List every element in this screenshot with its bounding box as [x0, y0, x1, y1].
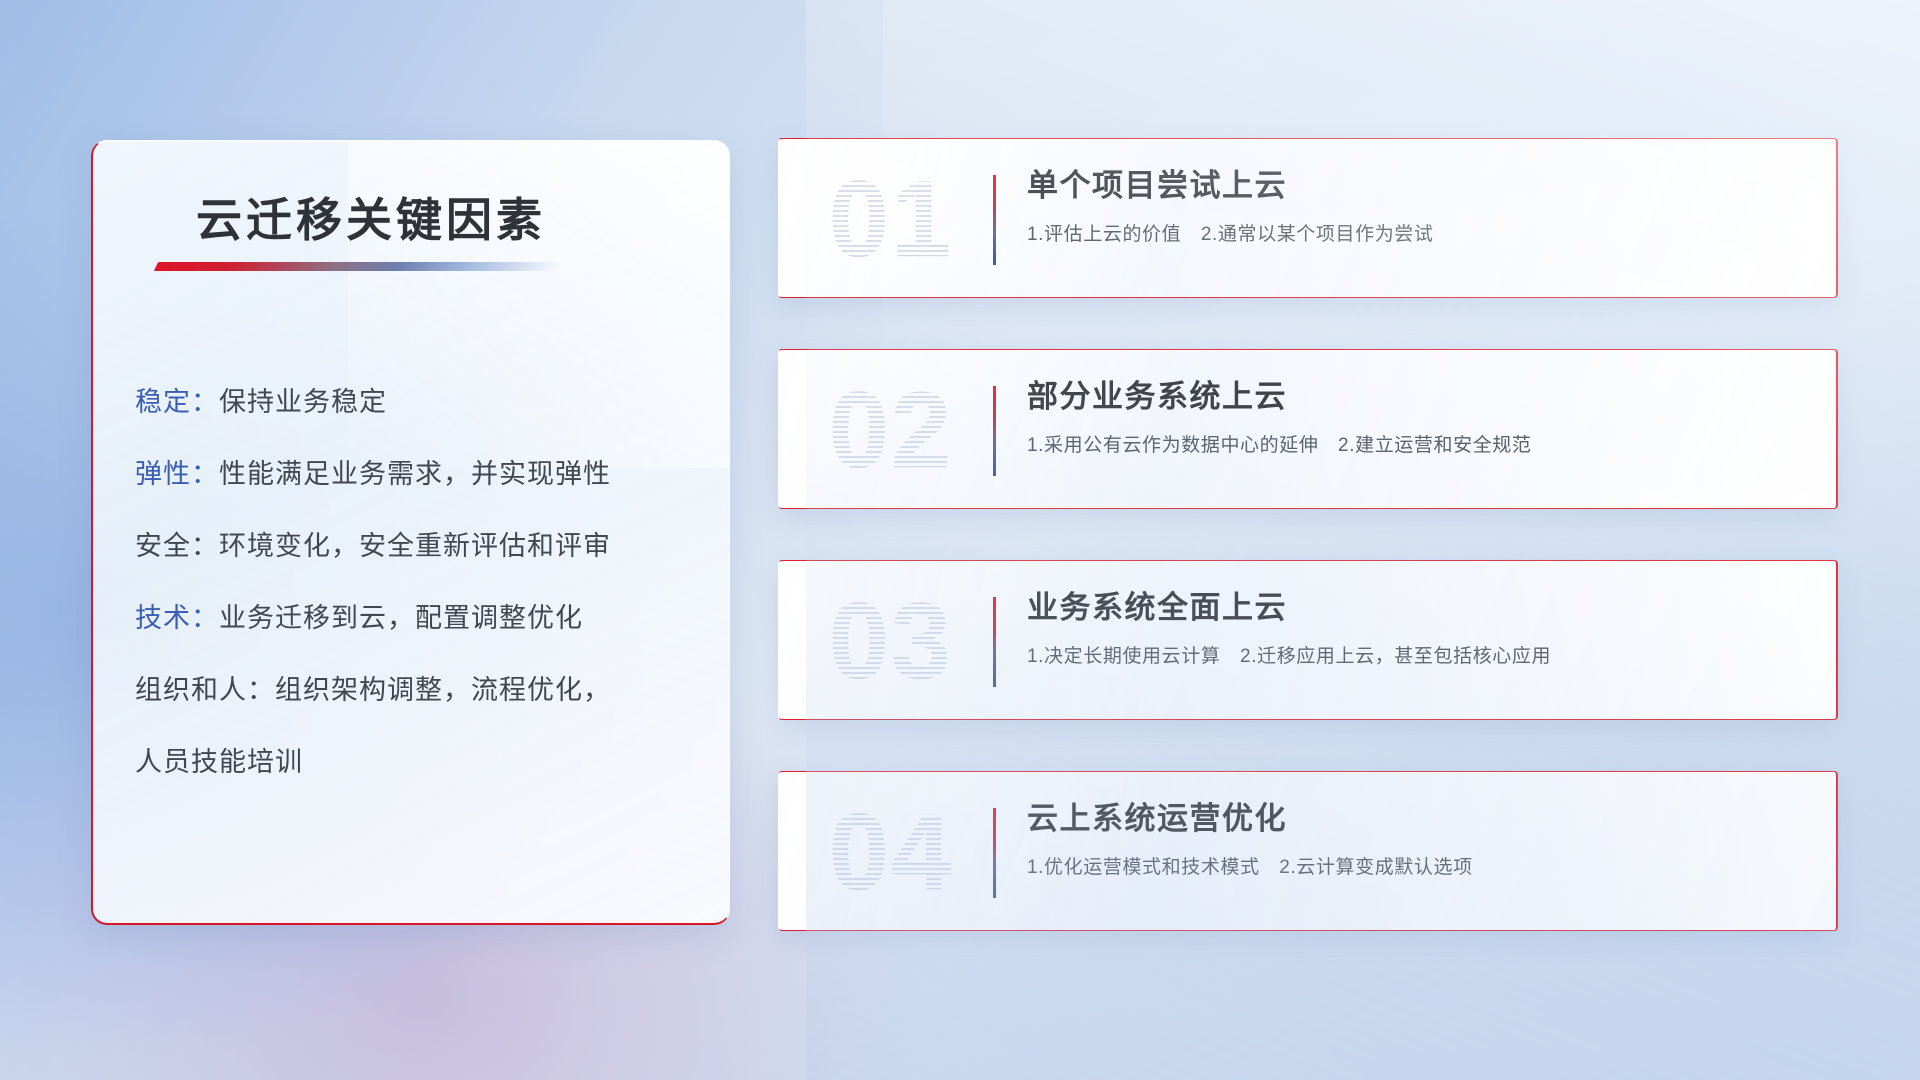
migration-steps-list: 01 单个项目尝试上云 1.评估上云的价值 2.通常以某个项目作为尝试 02 部… — [778, 138, 1838, 931]
step-content: 部分业务系统上云 1.采用公有云作为数据中心的延伸 2.建立运营和安全规范 — [1027, 378, 1808, 459]
step-description: 1.优化运营模式和技术模式 2.云计算变成默认选项 — [1027, 856, 1808, 881]
step-card-04[interactable]: 04 云上系统运营优化 1.优化运营模式和技术模式 2.云计算变成默认选项 — [778, 771, 1838, 931]
step-title: 部分业务系统上云 — [1027, 378, 1808, 415]
title-underline-accent — [154, 262, 562, 271]
slide-canvas: 云迁移关键因素 稳定：保持业务稳定 弹性：性能满足业务需求，并实现弹性 安全：环… — [0, 0, 1920, 1080]
step-card-03[interactable]: 03 业务系统全面上云 1.决定长期使用云计算 2.迁移应用上云，甚至包括核心应… — [778, 560, 1838, 720]
factor-label: 安全： — [135, 531, 219, 561]
step-number-watermark: 02 — [801, 366, 981, 494]
list-item: 人员技能培训 — [135, 749, 695, 776]
step-divider-accent — [993, 597, 996, 687]
factor-text: 组织架构调整，流程优化， — [275, 675, 611, 705]
step-description: 1.评估上云的价值 2.通常以某个项目作为尝试 — [1027, 223, 1808, 248]
key-factors-list: 稳定：保持业务稳定 弹性：性能满足业务需求，并实现弹性 安全：环境变化，安全重新… — [135, 389, 695, 776]
step-divider-accent — [993, 175, 996, 265]
step-content: 业务系统全面上云 1.决定长期使用云计算 2.迁移应用上云，甚至包括核心应用 — [1027, 589, 1808, 670]
step-divider-accent — [993, 808, 996, 898]
factor-text: 人员技能培训 — [135, 747, 303, 777]
step-content: 单个项目尝试上云 1.评估上云的价值 2.通常以某个项目作为尝试 — [1027, 167, 1808, 248]
factor-label: 稳定： — [135, 387, 219, 417]
step-content: 云上系统运营优化 1.优化运营模式和技术模式 2.云计算变成默认选项 — [1027, 800, 1808, 881]
list-item: 组织和人：组织架构调整，流程优化， — [135, 677, 695, 704]
factor-text: 业务迁移到云，配置调整优化 — [219, 603, 583, 633]
key-factors-panel: 云迁移关键因素 稳定：保持业务稳定 弹性：性能满足业务需求，并实现弹性 安全：环… — [91, 140, 730, 925]
step-title: 单个项目尝试上云 — [1027, 167, 1808, 204]
list-item: 安全：环境变化，安全重新评估和评审 — [135, 533, 695, 560]
step-card-01[interactable]: 01 单个项目尝试上云 1.评估上云的价值 2.通常以某个项目作为尝试 — [778, 138, 1838, 298]
factor-text: 环境变化，安全重新评估和评审 — [219, 531, 611, 561]
step-title: 云上系统运营优化 — [1027, 800, 1808, 837]
step-title: 业务系统全面上云 — [1027, 589, 1808, 626]
list-item: 稳定：保持业务稳定 — [135, 389, 695, 416]
factor-label: 弹性： — [135, 459, 219, 489]
step-card-02[interactable]: 02 部分业务系统上云 1.采用公有云作为数据中心的延伸 2.建立运营和安全规范 — [778, 349, 1838, 509]
page-title: 云迁移关键因素 — [196, 184, 546, 250]
step-description: 1.决定长期使用云计算 2.迁移应用上云，甚至包括核心应用 — [1027, 645, 1808, 670]
factor-text: 保持业务稳定 — [219, 387, 387, 417]
factor-label: 技术： — [135, 603, 219, 633]
step-number-watermark: 01 — [801, 155, 981, 283]
list-item: 弹性：性能满足业务需求，并实现弹性 — [135, 461, 695, 488]
factor-text: 性能满足业务需求，并实现弹性 — [219, 459, 611, 489]
step-description: 1.采用公有云作为数据中心的延伸 2.建立运营和安全规范 — [1027, 434, 1808, 459]
step-number-watermark: 03 — [801, 577, 981, 705]
factor-label: 组织和人： — [135, 675, 275, 705]
list-item: 技术：业务迁移到云，配置调整优化 — [135, 605, 695, 632]
step-number-watermark: 04 — [801, 788, 981, 916]
step-divider-accent — [993, 386, 996, 476]
